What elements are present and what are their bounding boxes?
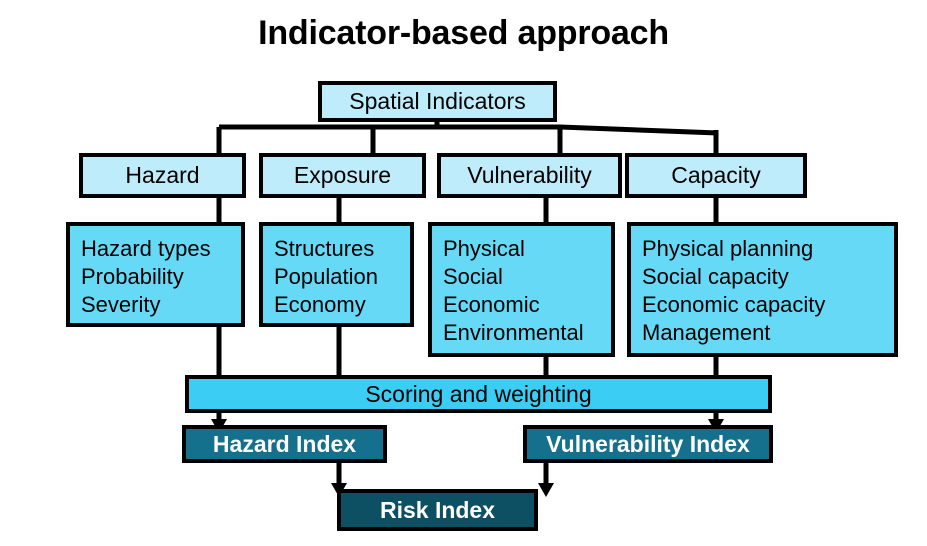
list-item: Environmental (432, 319, 584, 347)
list-item: Economic capacity (631, 291, 825, 319)
node-vulnerability-index-label: Vulnerability Index (546, 433, 750, 456)
node-pillar-vulnerability-label: Vulnerability (467, 164, 591, 187)
node-pillar-capacity[interactable]: Capacity (625, 153, 807, 198)
list-item: Social (432, 263, 584, 291)
list-item: Structures (263, 235, 378, 263)
node-hazard-index[interactable]: Hazard Index (182, 425, 387, 463)
list-item: Physical planning (631, 235, 825, 263)
list-item: Economic (432, 291, 584, 319)
node-hazard-index-label: Hazard Index (213, 433, 356, 456)
node-risk-index[interactable]: Risk Index (337, 489, 538, 531)
list-item: Probability (70, 263, 211, 291)
indicator-list-capacity: Physical planning Social capacity Econom… (631, 226, 825, 347)
node-scoring-and-weighting[interactable]: Scoring and weighting (185, 375, 772, 413)
node-spatial-indicators-label: Spatial Indicators (349, 90, 525, 113)
indicator-list-exposure: Structures Population Economy (263, 226, 378, 319)
node-indicators-exposure[interactable]: Structures Population Economy (259, 222, 414, 327)
node-indicators-capacity[interactable]: Physical planning Social capacity Econom… (627, 222, 898, 357)
list-item: Management (631, 319, 825, 347)
node-pillar-hazard-label: Hazard (125, 164, 199, 187)
node-risk-index-label: Risk Index (380, 499, 495, 522)
node-spatial-indicators[interactable]: Spatial Indicators (318, 81, 557, 122)
node-pillar-hazard[interactable]: Hazard (79, 153, 246, 198)
node-pillar-vulnerability[interactable]: Vulnerability (437, 153, 622, 198)
list-item: Hazard types (70, 235, 211, 263)
list-item: Physical (432, 235, 584, 263)
node-scoring-and-weighting-label: Scoring and weighting (365, 383, 591, 406)
node-pillar-exposure-label: Exposure (294, 164, 391, 187)
node-pillar-exposure[interactable]: Exposure (259, 153, 426, 198)
list-item: Population (263, 263, 378, 291)
node-indicators-hazard[interactable]: Hazard types Probability Severity (66, 222, 245, 327)
indicator-list-hazard: Hazard types Probability Severity (70, 226, 211, 319)
node-pillar-capacity-label: Capacity (671, 164, 760, 187)
diagram-canvas: Indicator-based approach (0, 0, 927, 546)
indicator-list-vulnerability: Physical Social Economic Environmental (432, 226, 584, 347)
node-vulnerability-index[interactable]: Vulnerability Index (523, 425, 773, 463)
wire-root-bus (219, 127, 718, 133)
node-indicators-vulnerability[interactable]: Physical Social Economic Environmental (428, 222, 615, 357)
list-item: Economy (263, 291, 378, 319)
list-item: Social capacity (631, 263, 825, 291)
arrowhead-risk-right (538, 483, 554, 497)
list-item: Severity (70, 291, 211, 319)
